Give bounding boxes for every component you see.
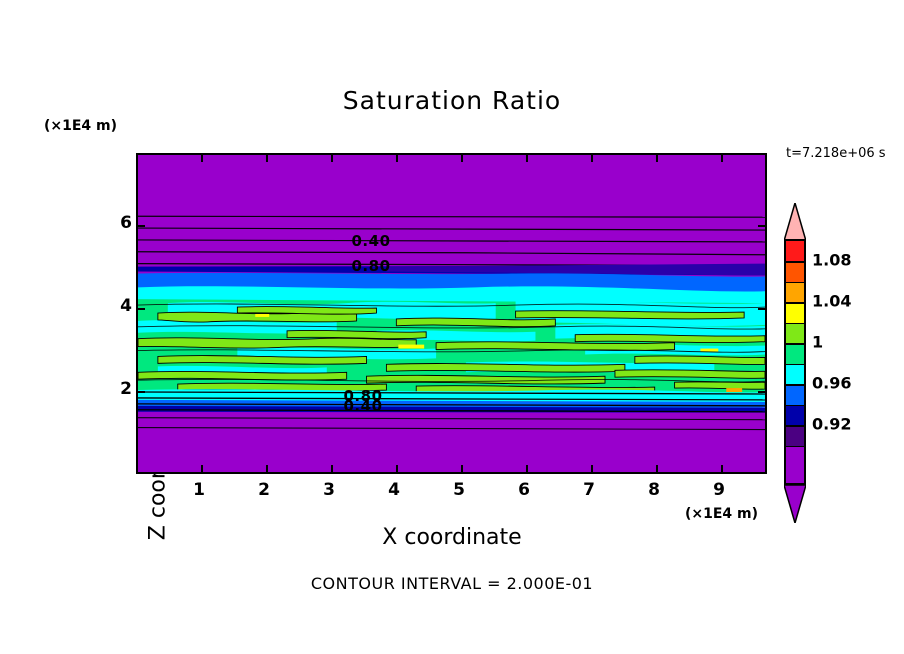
x-tick-mark-top [656,155,658,162]
x-tick-mark-top [331,155,333,162]
x-tick-mark [656,465,658,472]
colorbar-band-divider [786,323,804,325]
x-tick-mark [461,465,463,472]
y-tick-mark-right [758,225,765,227]
y-tick-label: 6 [120,213,132,233]
x-tick-mark [396,465,398,472]
colorbar-band-divider [786,302,804,304]
x-tick-mark-top [526,155,528,162]
x-tick-mark-top [461,155,463,162]
colorbar-tick-label: 1 [812,333,823,352]
x-tick-mark-top [721,155,723,162]
x-tick-mark-top [266,155,268,162]
colorbar-band [786,303,804,324]
contour-label: 0.40 [351,232,390,250]
x-tick-mark [526,465,528,472]
colorbar-band [786,405,804,426]
colorbar-tick-label: 0.92 [812,415,851,434]
colorbar-band [786,241,804,262]
x-tick-label: 9 [713,480,725,500]
x-tick-label: 4 [388,480,400,500]
colorbar-band-divider [786,384,804,386]
colorbar-band [786,385,804,406]
colorbar-band-divider [786,446,804,448]
colorbar [780,203,810,521]
contour-field [138,155,765,472]
x-tick-mark-top [591,155,593,162]
colorbar-band [786,446,804,483]
title-text: Saturation Ratio [343,86,561,115]
y-tick-mark-right [758,308,765,310]
y-tick-mark-right [758,391,765,393]
colorbar-band-divider [786,282,804,284]
colorbar-band [786,364,804,385]
contour-label: 0.80 [351,257,390,275]
x-tick-mark [331,465,333,472]
timestamp-label: t=7.218e+06 s [786,146,886,161]
y-tick-label: 4 [120,296,132,316]
colorbar-labels: 1.08 1.04 1 0.96 0.92 [812,203,892,521]
colorbar-band-divider [786,343,804,345]
x-tick-label: 8 [648,480,660,500]
colorbar-band [786,426,804,447]
colorbar-top-arrow [784,203,806,241]
x-tick-mark [721,465,723,472]
y-axis-title-wrapper: Z coordinate [62,218,96,418]
page-title: Saturation Ratio [0,86,904,115]
x-tick-mark [266,465,268,472]
x-tick-label: 1 [193,480,205,500]
x-tick-mark [201,465,203,472]
x-tick-label: 6 [518,480,530,500]
x-axis-unit-label: (×1E4 m) [685,506,758,522]
colorbar-tick-label: 0.96 [812,374,851,393]
colorbar-band [786,262,804,283]
colorbar-band [786,323,804,344]
contour-label: 0.40 [343,397,382,415]
x-tick-label: 7 [583,480,595,500]
x-tick-mark-top [201,155,203,162]
x-tick-mark [591,465,593,472]
x-axis-title: X coordinate [0,525,904,550]
colorbar-band-divider [786,261,804,263]
colorbar-band [786,282,804,303]
colorbar-tick-label: 1.08 [812,251,851,270]
colorbar-band-divider [786,364,804,366]
colorbar-tick-label: 1.04 [812,292,851,311]
contour-interval-caption: CONTOUR INTERVAL = 2.000E-01 [0,574,904,593]
x-tick-label: 2 [258,480,270,500]
contour-plot-figure: Saturation Ratio (×1E4 m) t=7.218e+06 s … [0,0,904,654]
x-tick-mark-top [396,155,398,162]
colorbar-band [786,344,804,365]
colorbar-band-divider [786,425,804,427]
x-tick-labels: 1 2 3 4 5 6 7 8 9 [136,480,767,504]
colorbar-bands [784,239,806,485]
y-tick-mark [138,308,145,310]
y-tick-mark [138,225,145,227]
colorbar-band-divider [786,405,804,407]
x-tick-label: 3 [323,480,335,500]
plot-area: 0.40 0.80 0.80 0.40 [136,153,767,474]
colorbar-bottom-arrow [784,485,806,523]
y-axis-unit-label: (×1E4 m) [44,118,117,134]
y-tick-labels: 2 4 6 [96,153,132,474]
x-tick-label: 5 [453,480,465,500]
y-tick-label: 2 [120,379,132,399]
y-tick-mark [138,391,145,393]
